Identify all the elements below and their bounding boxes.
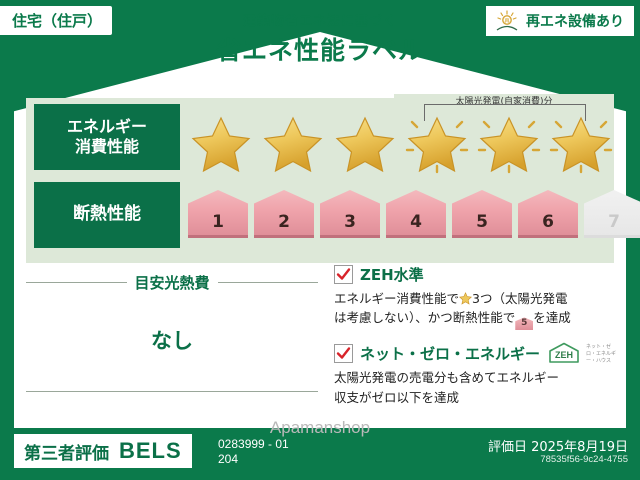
energy-performance-label: 住宅（住戸） 再 再エネ設備あり 建築物省エネ法に基づく 省エネ性能ラベル — [0, 0, 640, 480]
star-icon — [332, 114, 398, 174]
star-icon-solar — [548, 114, 614, 174]
utility-cost-underline — [26, 391, 318, 392]
zeh-logo-subtext: ネット・ゼロ・エネルギー・ハウス — [586, 343, 620, 364]
energy-stars-area: 太陽光発電(自家消費)分 — [188, 98, 608, 176]
rule-right — [218, 282, 319, 283]
star-icon — [188, 114, 254, 174]
insulation-level-badge-inactive: 7 — [584, 190, 640, 238]
sun-icon: 再 — [494, 10, 520, 32]
zeh-standard-header: ZEH水準 — [334, 264, 620, 285]
zeh-standard-title: ZEH水準 — [360, 264, 424, 285]
lower-section: 目安光熱費 なし ZEH水準 エネルギー消費性能で3つ（太陽光発電 は考慮しない… — [26, 272, 614, 417]
insulation-level-badge: 6 — [518, 190, 578, 238]
net-zero-desc-line2: 収支がゼロ以下を達成 — [334, 390, 459, 405]
star-icon-solar — [404, 114, 470, 174]
evaluation-id: 78535f56-9c24-4755 — [540, 454, 628, 465]
insulation-level-badge: 4 — [386, 190, 446, 238]
checkbox-checked — [334, 265, 353, 284]
zeh-desc-before: エネルギー消費性能で — [334, 291, 459, 306]
energy-label-line2: 消費性能 — [75, 137, 139, 157]
evaluation-date: 評価日 2025年8月19日 — [488, 436, 628, 455]
performance-panel: エネルギー 消費性能 太陽光発電(自家消費)分 — [26, 98, 614, 263]
bels-chip: 第三者評価 BELS — [14, 434, 192, 468]
utility-cost-header: 目安光熱費 — [26, 272, 318, 293]
net-zero-title: ネット・ゼロ・エネルギー — [360, 343, 540, 364]
insulation-level-badge: 1 — [188, 190, 248, 238]
energy-consumption-row: エネルギー 消費性能 太陽光発電(自家消費)分 — [26, 98, 614, 176]
star-rating — [188, 114, 614, 174]
svg-text:再: 再 — [504, 18, 510, 25]
utility-cost-block: 目安光熱費 なし — [26, 272, 318, 392]
energy-consumption-label: エネルギー 消費性能 — [34, 104, 180, 170]
insulation-level-badge: 2 — [254, 190, 314, 238]
insulation-row: 断熱性能 1 2 3 4 5 6 7 — [26, 176, 614, 250]
third-party-label: 第三者評価 — [24, 439, 109, 464]
energy-label-line1: エネルギー — [67, 117, 147, 137]
zeh-blocks: ZEH水準 エネルギー消費性能で3つ（太陽光発電 は考慮しない）、かつ断熱性能で… — [334, 264, 620, 419]
category-tag: 住宅（住戸） — [0, 6, 112, 35]
utility-cost-title: 目安光熱費 — [135, 272, 210, 293]
certificate-number-line1: 0283999 - 01 — [218, 437, 289, 452]
zeh-house-logo: ZEH — [547, 342, 581, 364]
star-icon-solar — [476, 114, 542, 174]
mini-insulation-badge: 5 — [515, 317, 533, 330]
utility-cost-value: なし — [26, 325, 318, 355]
insulation-level-badge: 3 — [320, 190, 380, 238]
certificate-number: 0283999 - 01 204 — [218, 437, 289, 467]
svg-text:ZEH: ZEH — [555, 350, 573, 360]
net-zero-desc-line1: 太陽光発電の売電分も含めてエネルギー — [334, 370, 559, 385]
star-icon — [260, 114, 326, 174]
zeh-desc-after: を達成 — [533, 310, 571, 325]
net-zero-energy-block: ネット・ゼロ・エネルギー ZEH ネット・ゼロ・エネルギー・ハウス 太陽光発電の… — [334, 342, 620, 407]
mini-star-icon — [459, 291, 472, 304]
zeh-standard-block: ZEH水準 エネルギー消費性能で3つ（太陽光発電 は考慮しない）、かつ断熱性能で… — [334, 264, 620, 330]
net-zero-header: ネット・ゼロ・エネルギー ZEH ネット・ゼロ・エネルギー・ハウス — [334, 342, 620, 364]
zeh-desc-mid: は考慮しない）、かつ断熱性能で — [334, 310, 515, 325]
zeh-desc-star-text: 3つ（太陽光発電 — [472, 291, 567, 306]
insulation-level-badge: 5 — [452, 190, 512, 238]
renewable-badge-label: 再エネ設備あり — [526, 11, 624, 31]
title-main: 省エネ性能ラベル — [0, 31, 640, 67]
watermark: Apamanshop — [0, 418, 640, 438]
renewable-energy-badge: 再 再エネ設備あり — [486, 6, 634, 36]
certificate-number-line2: 204 — [218, 452, 289, 467]
checkbox-checked — [334, 344, 353, 363]
net-zero-description: 太陽光発電の売電分も含めてエネルギー 収支がゼロ以下を達成 — [334, 368, 620, 407]
bels-logo-text: BELS — [119, 438, 182, 464]
insulation-scale: 1 2 3 4 5 6 7 — [188, 190, 640, 238]
rule-left — [26, 282, 127, 283]
zeh-standard-description: エネルギー消費性能で3つ（太陽光発電 は考慮しない）、かつ断熱性能で5を達成 — [334, 289, 620, 330]
insulation-label: 断熱性能 — [34, 182, 180, 248]
